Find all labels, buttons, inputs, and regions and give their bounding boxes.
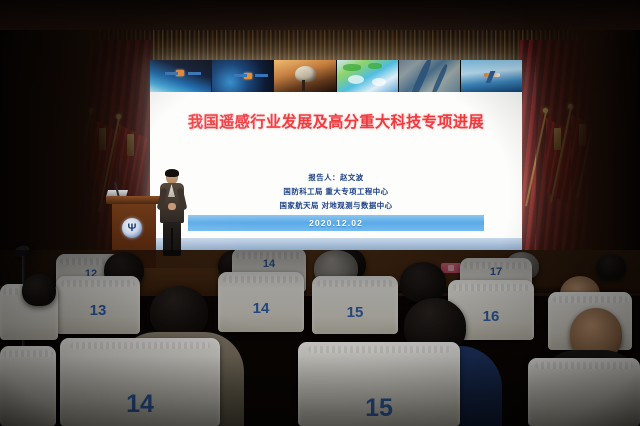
- solar-panel-icon: [234, 74, 247, 77]
- solar-panel-icon: [165, 72, 178, 75]
- audience-area: 12 14 17 13 14 15 16: [0, 250, 640, 426]
- speaker-hands-holding-mic: [168, 203, 176, 210]
- audience-head: [596, 254, 626, 280]
- podium-emblem-logo: Ψ: [122, 218, 142, 238]
- chair-number: 14: [232, 258, 306, 270]
- aircraft-over-earth-image: [460, 60, 522, 92]
- chair-number: 17: [460, 266, 532, 278]
- aerial-city-river-image: [398, 60, 460, 92]
- audience-chair: [528, 358, 640, 426]
- cloud-shape: [372, 78, 386, 86]
- speaker-person: [157, 170, 187, 256]
- river-shape: [430, 64, 448, 92]
- slide-subtitle-presenter: 报告人：赵文波: [150, 172, 522, 183]
- radar-dish-antenna-image: [273, 60, 335, 92]
- conference-hall-photo: 我国遥感行业发展及高分重大科技专项进展 报告人：赵文波 国防科工局 重大专项工程…: [0, 0, 640, 426]
- audience-chair: 15: [298, 342, 460, 426]
- slide-date-bar: 2020.12.02: [188, 215, 484, 231]
- slide-bottom-band: [150, 238, 522, 250]
- cloud-shape: [348, 75, 364, 84]
- slide-subtitle-org-1: 国防科工局 重大专项工程中心: [150, 186, 522, 197]
- audience-head: [22, 274, 56, 306]
- satellite-in-space-image: [211, 60, 273, 92]
- map-landmass-shape: [368, 63, 382, 69]
- emblem-glyph-icon: Ψ: [128, 223, 137, 234]
- chair-number: 15: [298, 394, 460, 423]
- audience-head: [150, 286, 208, 338]
- solar-panel-icon: [255, 74, 268, 77]
- chair-number: 14: [60, 390, 220, 419]
- chair-number: 14: [218, 300, 304, 317]
- audience-head: [400, 262, 446, 302]
- slide-title: 我国遥感行业发展及高分重大科技专项进展: [150, 110, 522, 132]
- solar-panel-icon: [188, 72, 201, 75]
- speaker-hair: [165, 169, 179, 177]
- projection-screen-slide: 我国遥感行业发展及高分重大科技专项进展 报告人：赵文波 国防科工局 重大专项工程…: [150, 60, 522, 250]
- audience-chair: 15: [312, 276, 398, 334]
- weather-map-image: [336, 60, 398, 92]
- speaker-leg-gap: [171, 228, 173, 252]
- podium-top-surface: [106, 196, 162, 204]
- slide-banner-image-strip: [150, 60, 522, 92]
- slide-subtitle-org-2: 国家航天局 对地观测与数据中心: [150, 200, 522, 211]
- satellite-over-earth-image: [150, 60, 211, 92]
- audience-chair: 14: [60, 338, 220, 426]
- radar-dish-icon: [295, 66, 316, 82]
- river-shape: [408, 60, 433, 92]
- audience-chair: [0, 346, 56, 426]
- audience-chair: 14: [218, 272, 304, 332]
- antenna-mast-icon: [302, 80, 305, 91]
- slide-date-text: 2020.12.02: [309, 218, 363, 228]
- map-landmass-shape: [343, 64, 361, 71]
- chair-number: 15: [312, 304, 398, 321]
- chair-number: 13: [56, 302, 140, 319]
- audience-chair: 13: [56, 276, 140, 334]
